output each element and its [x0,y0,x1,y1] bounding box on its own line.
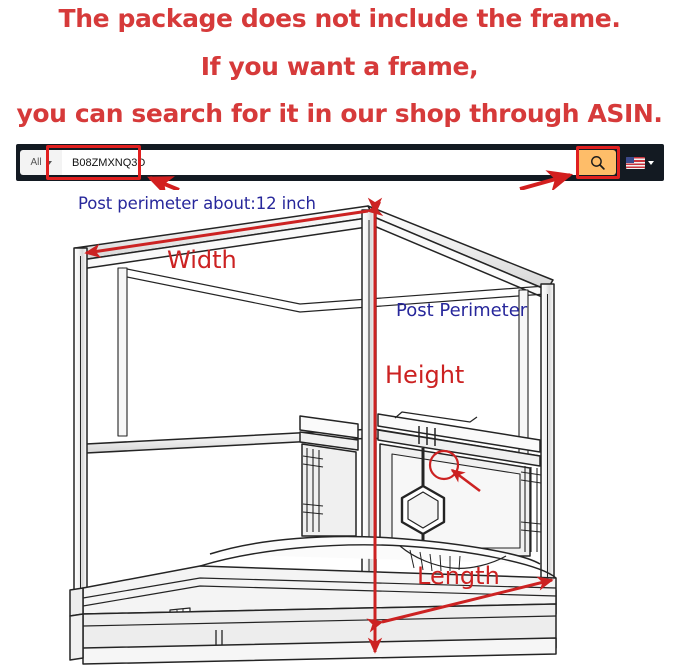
length-label: Length [417,562,500,590]
post-perimeter-label: Post Perimeter [396,300,527,321]
headline-line-1: The package does not include the frame. [0,4,679,33]
height-label: Height [385,361,464,389]
product-info-image: The package does not include the frame. … [0,0,679,669]
canopy-bed-diagram [0,186,679,669]
width-label: Width [167,246,237,274]
search-bar-pointer-arrows [0,135,679,190]
headline-line-2: If you want a frame, [0,52,679,81]
headline-line-3: you can search for it in our shop throug… [0,99,679,128]
post-perimeter-note-label: Post perimeter about:12 inch [78,194,316,213]
